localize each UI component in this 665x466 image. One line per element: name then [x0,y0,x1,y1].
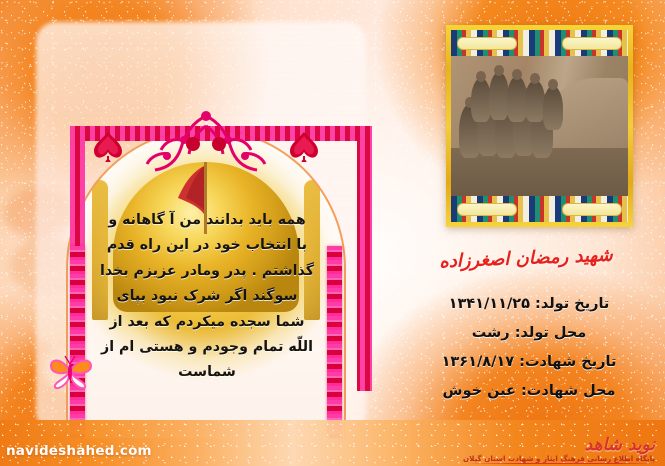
poem-line: اللّه تمام وجودم و هستی ام از [64,335,350,360]
photo-ornament-band-top [451,30,628,56]
poem-line: با انتخاب خود در این راه قدم [64,233,350,258]
brand-title: نوید شاهد [463,437,655,454]
info-row-martyrdom-place: محل شهادت: عین خوش [409,377,649,406]
spade-finial-right-icon [290,132,318,162]
martyr-photo [451,30,628,222]
spade-finial-left-icon [94,132,122,162]
info-row-martyrdom-date: تاریخ شهادت: ۱۳۶۱/۸/۱۷ [409,348,649,377]
info-row-birth-date: تاریخ تولد: ۱۳۴۱/۱۱/۲۵ [409,290,649,319]
photo-image [451,56,628,196]
martyr-memorial-poster: همه باید بدانند من آ گاهانه و با انتخاب … [0,0,665,466]
brand-logo: نوید شاهد پایگاه اطلاع رسانی فرهنگ ایثار… [463,437,655,462]
info-row-birth-place: محل تولد: رشت [409,319,649,348]
poem-text: همه باید بدانند من آ گاهانه و با انتخاب … [64,208,350,386]
brand-subtitle: پایگاه اطلاع رسانی فرهنگ ایثار و شهادت ا… [463,455,655,462]
poem-line: گذاشتم . پدر ومادر عزیزم بخدا [64,259,350,284]
poem-line: شماست [64,360,350,385]
photo-ornament-band-bottom [451,196,628,222]
butterfly-icon [48,352,94,390]
martyr-info-list: تاریخ تولد: ۱۳۴۱/۱۱/۲۵ محل تولد: رشت تار… [409,290,649,406]
poem-line: همه باید بدانند من آ گاهانه و [64,208,350,233]
poem-line: شما سجده میکردم که بعد از [64,310,350,335]
site-watermark: navideshahed.com [6,443,152,459]
martyr-photo-frame [446,25,633,227]
poem-line: سوگند اگر شرک نبود بپای [64,284,350,309]
